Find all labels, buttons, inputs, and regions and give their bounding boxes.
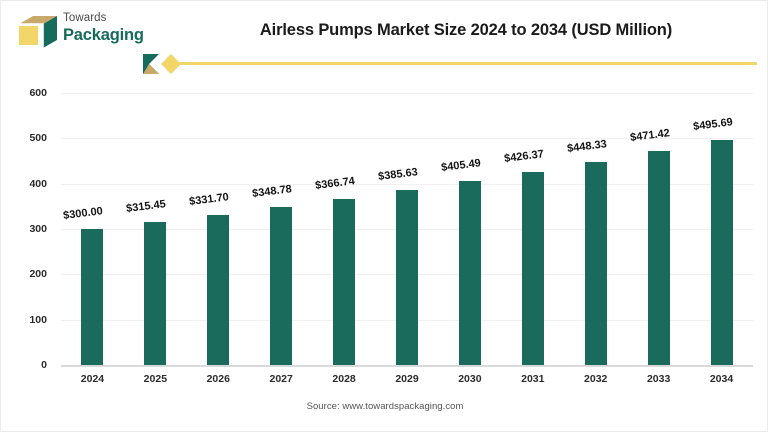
y-axis-tick-label: 600	[7, 87, 47, 99]
y-axis-tick-label: 400	[7, 178, 47, 190]
chevron-arrow-marker-icon	[141, 51, 193, 77]
bar-value-label: $315.45	[126, 198, 167, 215]
source-caption: Source: www.towardspackaging.com	[1, 401, 768, 412]
bar-value-label: $448.33	[566, 138, 607, 155]
bar-value-label: $495.69	[692, 117, 733, 134]
y-axis-tick-label: 300	[7, 223, 47, 235]
x-axis-tick-label: 2024	[62, 373, 122, 385]
bar-value-label: $348.78	[252, 183, 293, 200]
bar-value-label: $331.70	[189, 191, 230, 208]
y-axis-tick-label: 100	[7, 314, 47, 326]
x-axis-tick-label: 2030	[440, 373, 500, 385]
x-axis-tick-label: 2031	[503, 373, 563, 385]
bar[interactable]	[81, 229, 103, 365]
bar[interactable]	[459, 181, 481, 365]
y-axis-tick-label: 200	[7, 268, 47, 280]
brand-name-line1: Towards	[63, 11, 158, 26]
bar-value-label: $366.74	[315, 175, 356, 192]
bar[interactable]	[711, 140, 733, 365]
bar[interactable]	[270, 207, 292, 365]
bar-value-label: $405.49	[440, 157, 481, 174]
bar[interactable]	[648, 151, 670, 365]
bar[interactable]	[144, 222, 166, 365]
x-axis-tick-label: 2025	[125, 373, 185, 385]
bar[interactable]	[585, 162, 607, 365]
brand-name: Towards Packaging	[63, 11, 158, 51]
x-axis-tick-label: 2028	[314, 373, 374, 385]
divider	[141, 51, 759, 77]
bar-value-label: $426.37	[503, 148, 544, 165]
bar-value-label: $385.63	[378, 166, 419, 183]
chart-infographic: Towards Packaging Airless Pumps Market S…	[0, 0, 768, 432]
y-axis-tick-label: 0	[7, 359, 47, 371]
x-axis-tick-label: 2034	[692, 373, 752, 385]
x-axis-tick-label: 2027	[251, 373, 311, 385]
package-box-icon	[17, 13, 59, 49]
x-axis-tick-label: 2033	[629, 373, 689, 385]
brand-name-line2: Packaging	[63, 26, 158, 45]
x-axis-tick-label: 2026	[188, 373, 248, 385]
bar[interactable]	[522, 172, 544, 365]
gridline	[61, 93, 753, 94]
y-axis-tick-label: 500	[7, 132, 47, 144]
x-axis-tick-label: 2029	[377, 373, 437, 385]
brand-logo: Towards Packaging	[17, 11, 157, 51]
bar[interactable]	[207, 215, 229, 365]
bar-value-label: $471.42	[629, 128, 670, 145]
bar-value-label: $300.00	[63, 205, 104, 222]
page-title: Airless Pumps Market Size 2024 to 2034 (…	[181, 21, 751, 40]
bar[interactable]	[396, 190, 418, 365]
bar-chart-plot: 0100200300400500600$300.002024$315.45202…	[61, 93, 753, 365]
divider-rule	[179, 62, 757, 65]
bar[interactable]	[333, 199, 355, 365]
x-axis-tick-label: 2032	[566, 373, 626, 385]
x-axis-line	[61, 365, 753, 367]
